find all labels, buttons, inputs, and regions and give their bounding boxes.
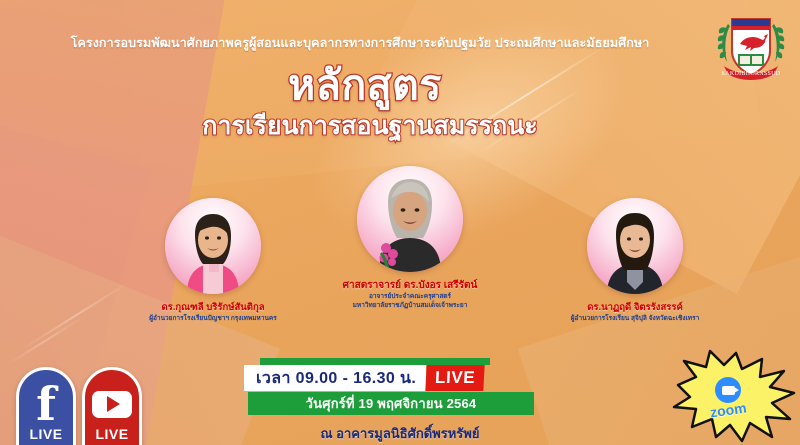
speaker-card-right: ดร.นาฏฤดี จิตรรังสรรค์ ผู้อำนวยการโรงเรี… [530, 198, 740, 324]
youtube-live-button[interactable]: LIVE [82, 367, 142, 445]
youtube-live-label: LIVE [95, 426, 128, 442]
green-accent-strip [260, 358, 490, 365]
speaker-role: อาจารย์ประจำคณะครุศาสตร์ [320, 293, 500, 302]
live-badge: LIVE [426, 365, 486, 391]
page-subtitle: การเรียนการสอนฐานสมรรถนะ [0, 106, 800, 146]
facebook-live-button[interactable]: f LIVE [16, 367, 76, 445]
speaker-caption: ศาสตราจารย์ ดร.บังอร เสรีรัตน์ อาจารย์ปร… [320, 278, 500, 311]
zoom-label: zoom [709, 400, 747, 421]
facebook-live-label: LIVE [29, 426, 62, 442]
zoom-logo: zoom [710, 377, 747, 418]
event-time-row: เวลา 09.00 - 16.30 น. LIVE [244, 365, 484, 391]
speaker-role: ผู้อำนวยการโรงเรียนปัญชาฯ กรุงเทพมหานคร [108, 315, 318, 324]
avatar [587, 198, 683, 294]
speaker-role: ผู้อำนวยการโรงเรียน สุจิปุลิ จังหวัดฉะเช… [530, 315, 740, 324]
speaker-card-center: ศาสตราจารย์ ดร.บังอร เสรีรัตน์ อาจารย์ปร… [320, 166, 500, 311]
zoom-burst-badge[interactable]: zoom [670, 349, 798, 445]
program-subtitle: โครงการอบรมพัฒนาศักยภาพครูผู้สอนและบุคลา… [0, 33, 800, 53]
youtube-icon [92, 384, 132, 424]
zoom-camera-icon [715, 377, 741, 403]
speaker-role: มหาวิทยาลัยราชภัฏบ้านสมเด็จเจ้าพระยา [320, 302, 500, 311]
speaker-card-left: ดร.กุณฑลี บริรักษ์สันติกุล ผู้อำนวยการโร… [108, 198, 318, 324]
avatar [357, 166, 463, 272]
speaker-name: ศาสตราจารย์ ดร.บังอร เสรีรัตน์ [320, 278, 500, 293]
event-poster: SAKDIBHORNSSUD โครงการอบรมพัฒนาศักยภาพคร… [0, 0, 800, 445]
speaker-name: ดร.กุณฑลี บริรักษ์สันติกุล [108, 300, 318, 315]
facebook-icon: f [36, 384, 56, 424]
event-time-label: เวลา 09.00 - 16.30 น. [244, 365, 426, 391]
event-date-label: วันศุกร์ที่ 19 พฤศจิกายน 2564 [248, 392, 534, 415]
speaker-name: ดร.นาฏฤดี จิตรรังสรรค์ [530, 300, 740, 315]
avatar [165, 198, 261, 294]
speaker-caption: ดร.นาฏฤดี จิตรรังสรรค์ ผู้อำนวยการโรงเรี… [530, 300, 740, 324]
speaker-caption: ดร.กุณฑลี บริรักษ์สันติกุล ผู้อำนวยการโร… [108, 300, 318, 324]
